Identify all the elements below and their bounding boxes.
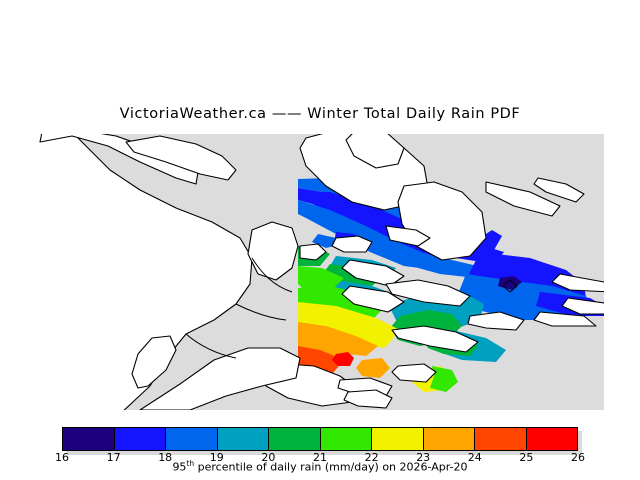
map-panel [0, 134, 604, 410]
colorbar-band-24–25[interactable] [475, 428, 527, 450]
colorbar-caption: 95th percentile of daily rain (mm/day) o… [0, 459, 640, 474]
colorbar-band-18–19[interactable] [166, 428, 218, 450]
contour-island-orange [356, 358, 390, 378]
colorbar-band-20–21[interactable] [269, 428, 321, 450]
coast-detail-b [236, 304, 286, 320]
colorbar-band-21–22[interactable] [321, 428, 373, 450]
contour-island-green-se [430, 366, 458, 392]
map-graphic [0, 134, 604, 410]
coast-saanich-inlet [248, 222, 298, 280]
colorbar-scale[interactable] [62, 427, 578, 451]
caption-pre: 95 [172, 461, 186, 474]
colorbar-band-17–18[interactable] [115, 428, 167, 450]
colorbar-band-25–26[interactable] [527, 428, 578, 450]
caption-ordinal-suffix: th [186, 459, 194, 468]
page-title: VictoriaWeather.ca —— Winter Total Daily… [0, 106, 640, 122]
colorbar-band-22–23[interactable] [372, 428, 424, 450]
weather-map-page: VictoriaWeather.ca —— Winter Total Daily… [0, 0, 640, 480]
colorbar [62, 427, 578, 451]
colorbar-band-16–17[interactable] [63, 428, 115, 450]
coast-olympic-islet [392, 364, 436, 382]
caption-post: percentile of daily rain (mm/day) on 202… [194, 461, 467, 474]
colorbar-band-19–20[interactable] [218, 428, 270, 450]
colorbar-band-23–24[interactable] [424, 428, 476, 450]
